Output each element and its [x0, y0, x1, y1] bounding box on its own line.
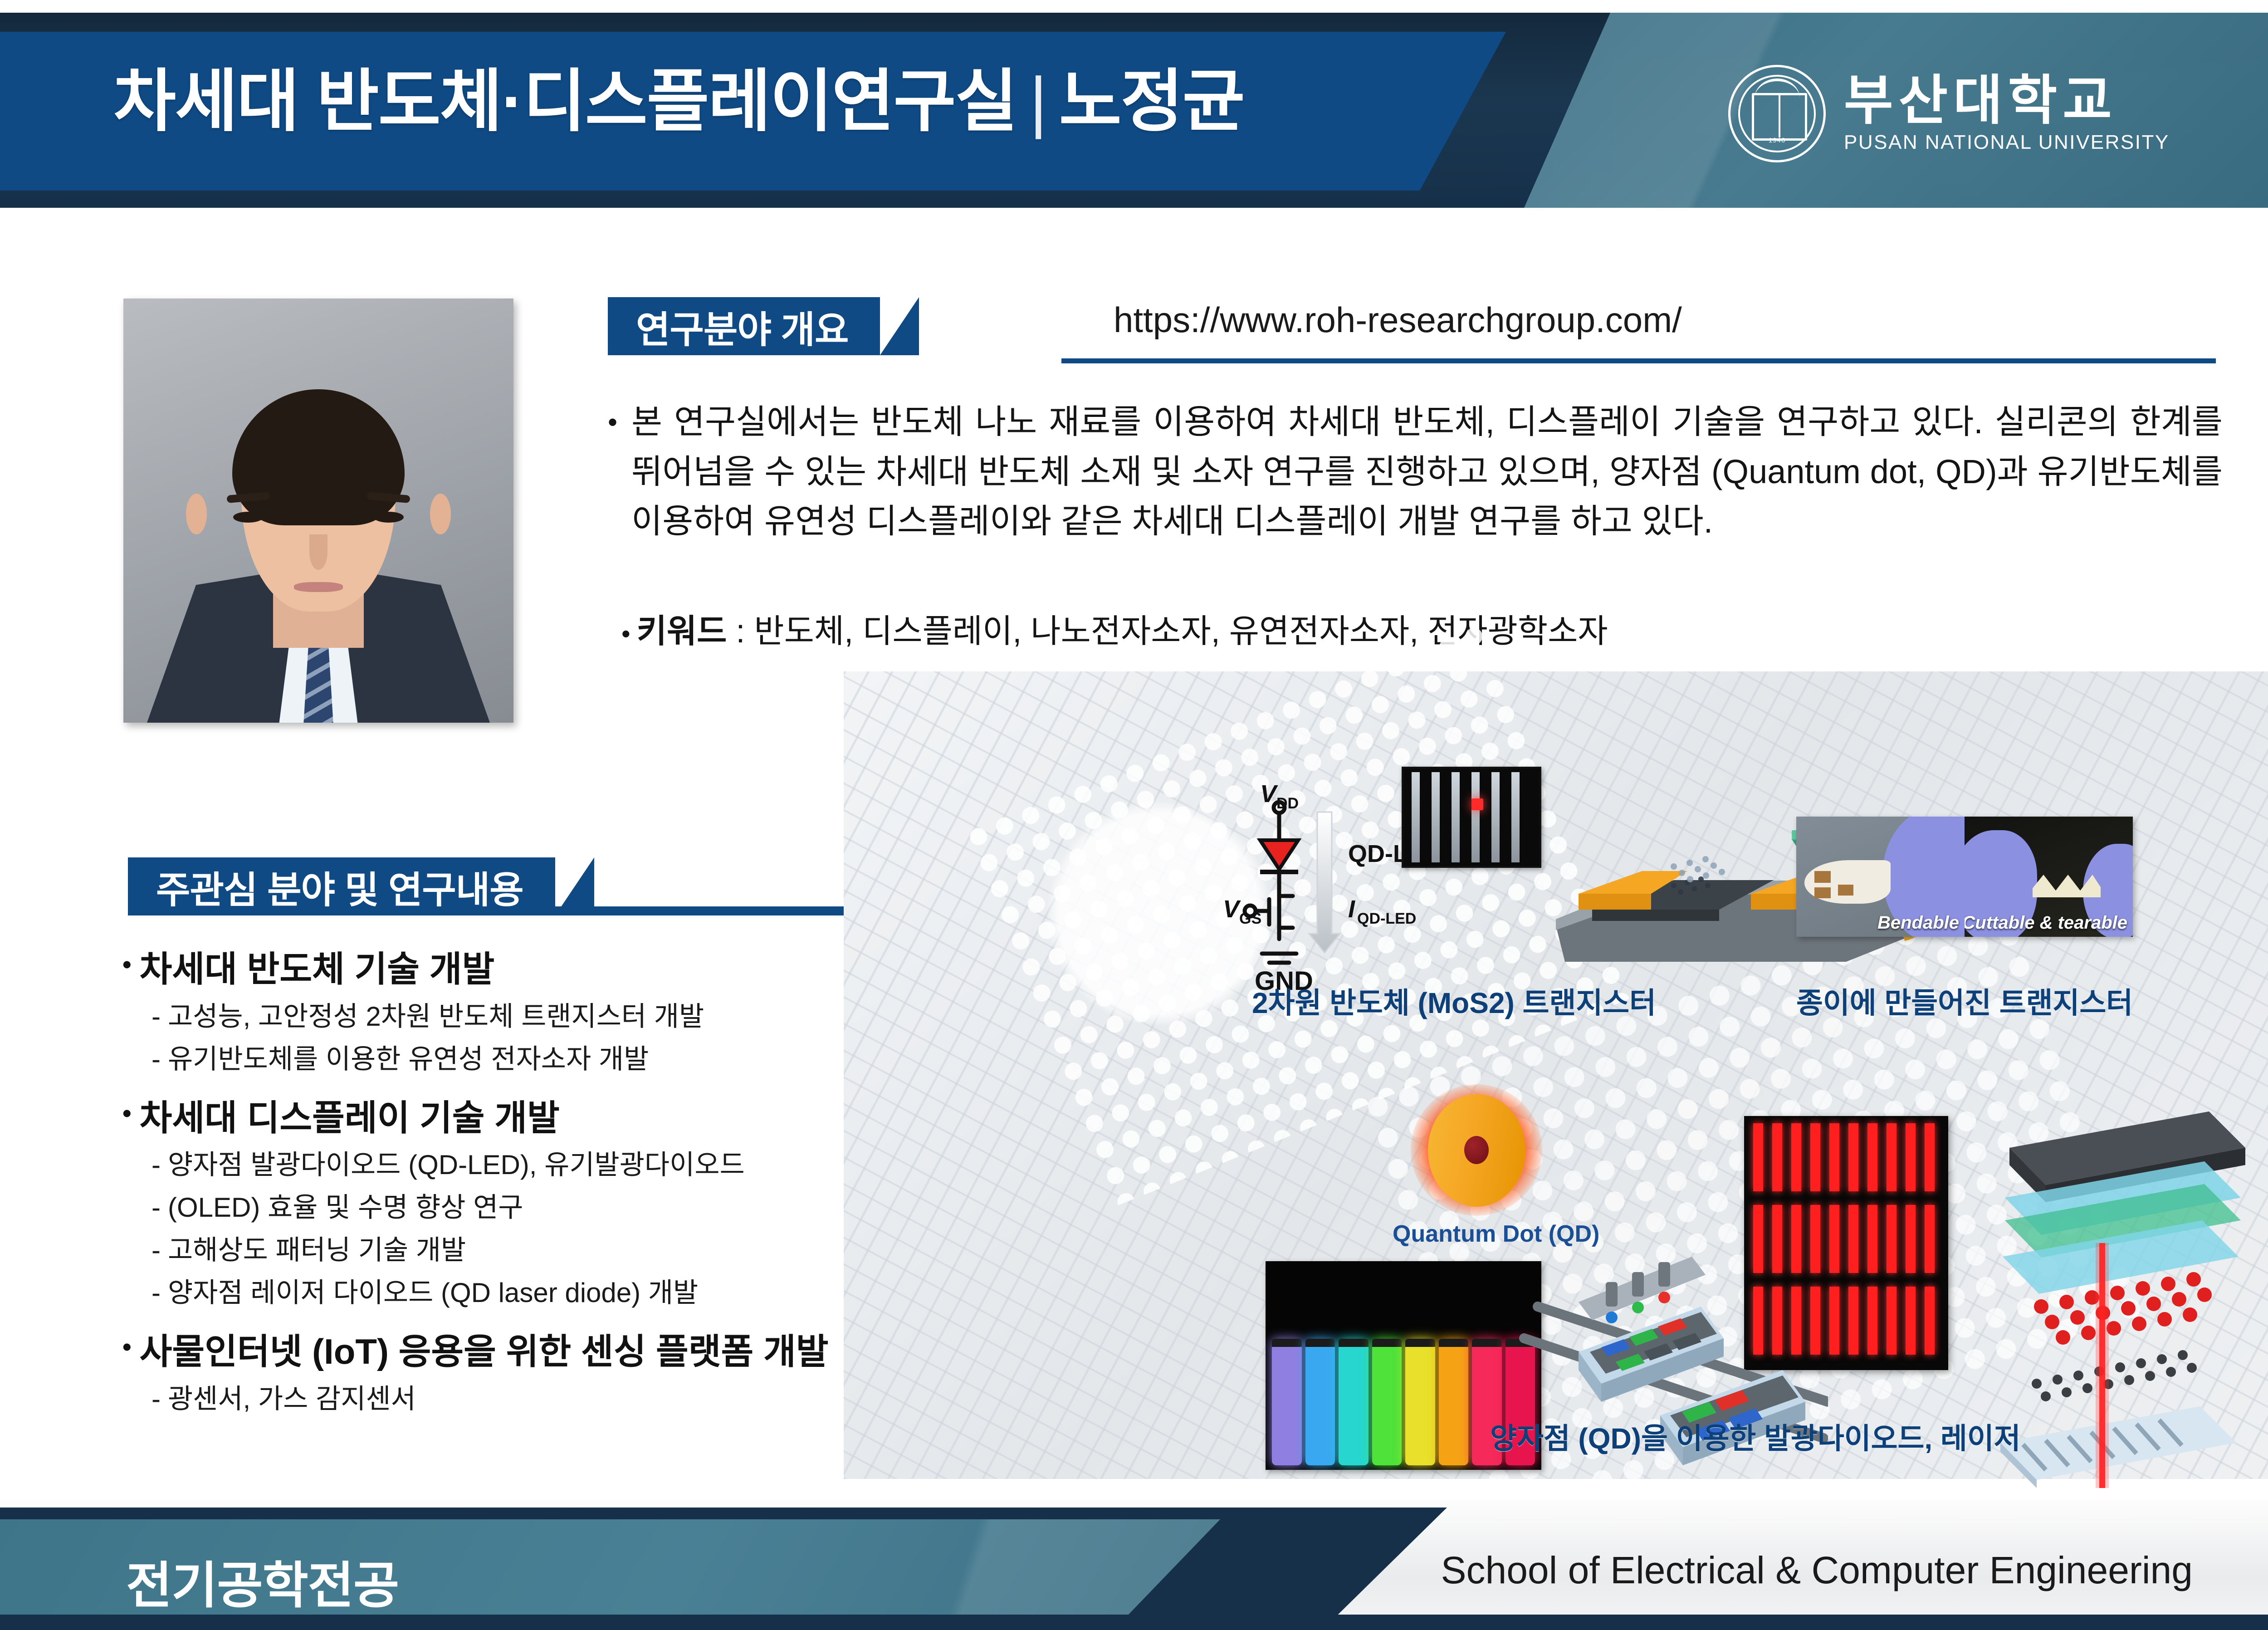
- svg-text:V: V: [1223, 896, 1241, 923]
- led-stripe-photo: [1402, 767, 1541, 868]
- overview-section-label: 연구분야 개요: [636, 299, 848, 353]
- paper-transistor-photos: Bendable Cuttable & tearable: [1796, 817, 2133, 937]
- bullet-icon: •: [621, 619, 631, 648]
- poster-footer: 전기공학전공 School of Electrical & Computer E…: [0, 1499, 2268, 1630]
- cuttable-tearable-photo: Cuttable & tearable: [1965, 817, 2133, 937]
- dash-icon: -: [152, 1150, 161, 1180]
- cuttable-tearable-label: Cuttable & tearable: [1965, 913, 2127, 933]
- research-section-label: 주관심 분야 및 연구내용: [156, 860, 523, 914]
- overview-paragraph: • 본 연구실에서는 반도체 나노 재료를 이용하여 차세대 반도체, 디스플레…: [608, 397, 2223, 546]
- lab-title-text: 차세대 반도체·디스플레이연구실: [113, 63, 1017, 139]
- bullet-icon: •: [122, 1099, 132, 1127]
- professor-name: 노정균: [1059, 63, 1244, 139]
- research-lab-poster: 차세대 반도체·디스플레이연구실|노정균 1946 부산대학교 PUSAN NA…: [0, 0, 2268, 1630]
- svg-text:DD: DD: [1276, 795, 1299, 812]
- caption-paper-transistor: 종이에 만들어진 트랜지스터: [1796, 980, 2133, 1022]
- dash-icon: -: [152, 1235, 161, 1265]
- dash-icon: -: [152, 1044, 161, 1074]
- poster-header: 차세대 반도체·디스플레이연구실|노정균 1946 부산대학교 PUSAN NA…: [0, 13, 2268, 208]
- bendable-photo: Bendable: [1796, 817, 1965, 937]
- dash-icon: -: [152, 1192, 161, 1223]
- caption-qd-led-laser: 양자점 (QD)을 이용한 발광다이오드, 레이저: [1490, 1415, 2021, 1457]
- footer-major-kr: 전기공학전공: [126, 1545, 399, 1617]
- overview-underline: [1061, 358, 2216, 363]
- svg-text:GS: GS: [1239, 910, 1261, 927]
- bullet-icon: •: [122, 950, 132, 979]
- bullet-icon: •: [122, 1332, 132, 1361]
- dash-icon: -: [152, 1278, 161, 1308]
- university-seal-icon: 1946: [1728, 65, 1826, 162]
- dash-icon: -: [152, 1001, 161, 1032]
- professor-photo: [123, 299, 513, 723]
- footer-school-en: School of Electrical & Computer Engineer…: [1441, 1548, 2193, 1592]
- keywords-separator: :: [727, 613, 754, 650]
- dash-icon: -: [152, 1384, 161, 1414]
- overview-paragraph-text: 본 연구실에서는 반도체 나노 재료를 이용하여 차세대 반도체, 디스플레이 …: [608, 397, 2223, 546]
- svg-text:V: V: [1260, 780, 1278, 808]
- caption-mos2-transistor: 2차원 반도체 (MoS2) 트랜지스터: [1252, 980, 1656, 1022]
- keywords-label: 키워드: [637, 613, 727, 650]
- university-logo: 1946 부산대학교 PUSAN NATIONAL UNIVERSITY: [1728, 65, 2170, 162]
- quantum-dot-illustration: [1411, 1084, 1542, 1216]
- seal-year: 1946: [1728, 137, 1826, 144]
- university-name-en: PUSAN NATIONAL UNIVERSITY: [1844, 131, 2170, 154]
- lab-website-url[interactable]: https://www.roh-researchgroup.com/: [1114, 299, 1682, 341]
- title-separator: |: [1030, 67, 1046, 135]
- university-name-kr: 부산대학교: [1844, 73, 2170, 128]
- overview-section-header: 연구분야 개요: [608, 297, 880, 355]
- page-title: 차세대 반도체·디스플레이연구실|노정균: [113, 67, 1244, 135]
- bullet-icon: •: [608, 402, 617, 443]
- footer-base-bar: [0, 1615, 2268, 1630]
- svg-text:I: I: [1348, 896, 1355, 923]
- svg-text:QD-LED: QD-LED: [1357, 910, 1416, 927]
- bendable-label: Bendable: [1877, 913, 1959, 933]
